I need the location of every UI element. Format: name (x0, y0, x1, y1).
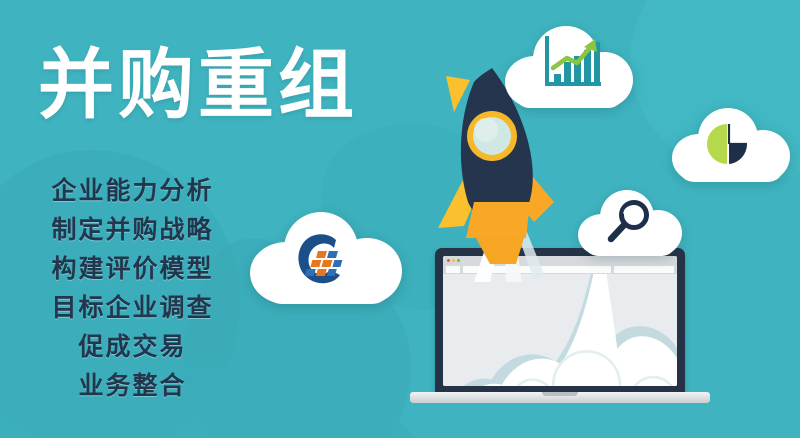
browser-viewport (443, 274, 677, 386)
bar-chart-icon (539, 36, 601, 92)
laptop-trackpad-notch (542, 392, 578, 396)
cloud-search (578, 190, 682, 256)
cloud-logo (250, 208, 402, 304)
list-item: 制定并购战略 (0, 215, 265, 245)
banner-canvas: 并购重组 企业能力分析 制定并购战略 构建评价模型 目标企业调查 促成交易 业务… (0, 0, 800, 438)
magnifier-icon (606, 198, 654, 244)
rocket-engine (466, 202, 530, 238)
rocket-smoke (443, 274, 677, 386)
page-title: 并购重组 (38, 48, 358, 124)
browser-search-field (614, 266, 674, 273)
list-item: 构建评价模型 (0, 254, 265, 284)
pie-slice-b (729, 124, 747, 144)
list-item: 企业能力分析 (0, 176, 265, 206)
pie-slice-a (707, 124, 727, 164)
bar-2 (564, 62, 571, 84)
bar-1 (554, 74, 561, 84)
pie-chart-icon (702, 120, 756, 168)
pie-slice-c (729, 144, 747, 164)
list-item: 业务整合 (0, 371, 265, 401)
list-item: 促成交易 (0, 332, 265, 362)
rocket-window-highlight (474, 118, 498, 142)
feature-list: 企业能力分析 制定并购战略 构建评价模型 目标企业调查 促成交易 业务整合 (0, 176, 265, 410)
list-item: 目标企业调查 (0, 293, 265, 323)
cloud-chart (505, 26, 633, 108)
company-logo-icon (290, 230, 352, 288)
cloud-pie (672, 108, 790, 182)
